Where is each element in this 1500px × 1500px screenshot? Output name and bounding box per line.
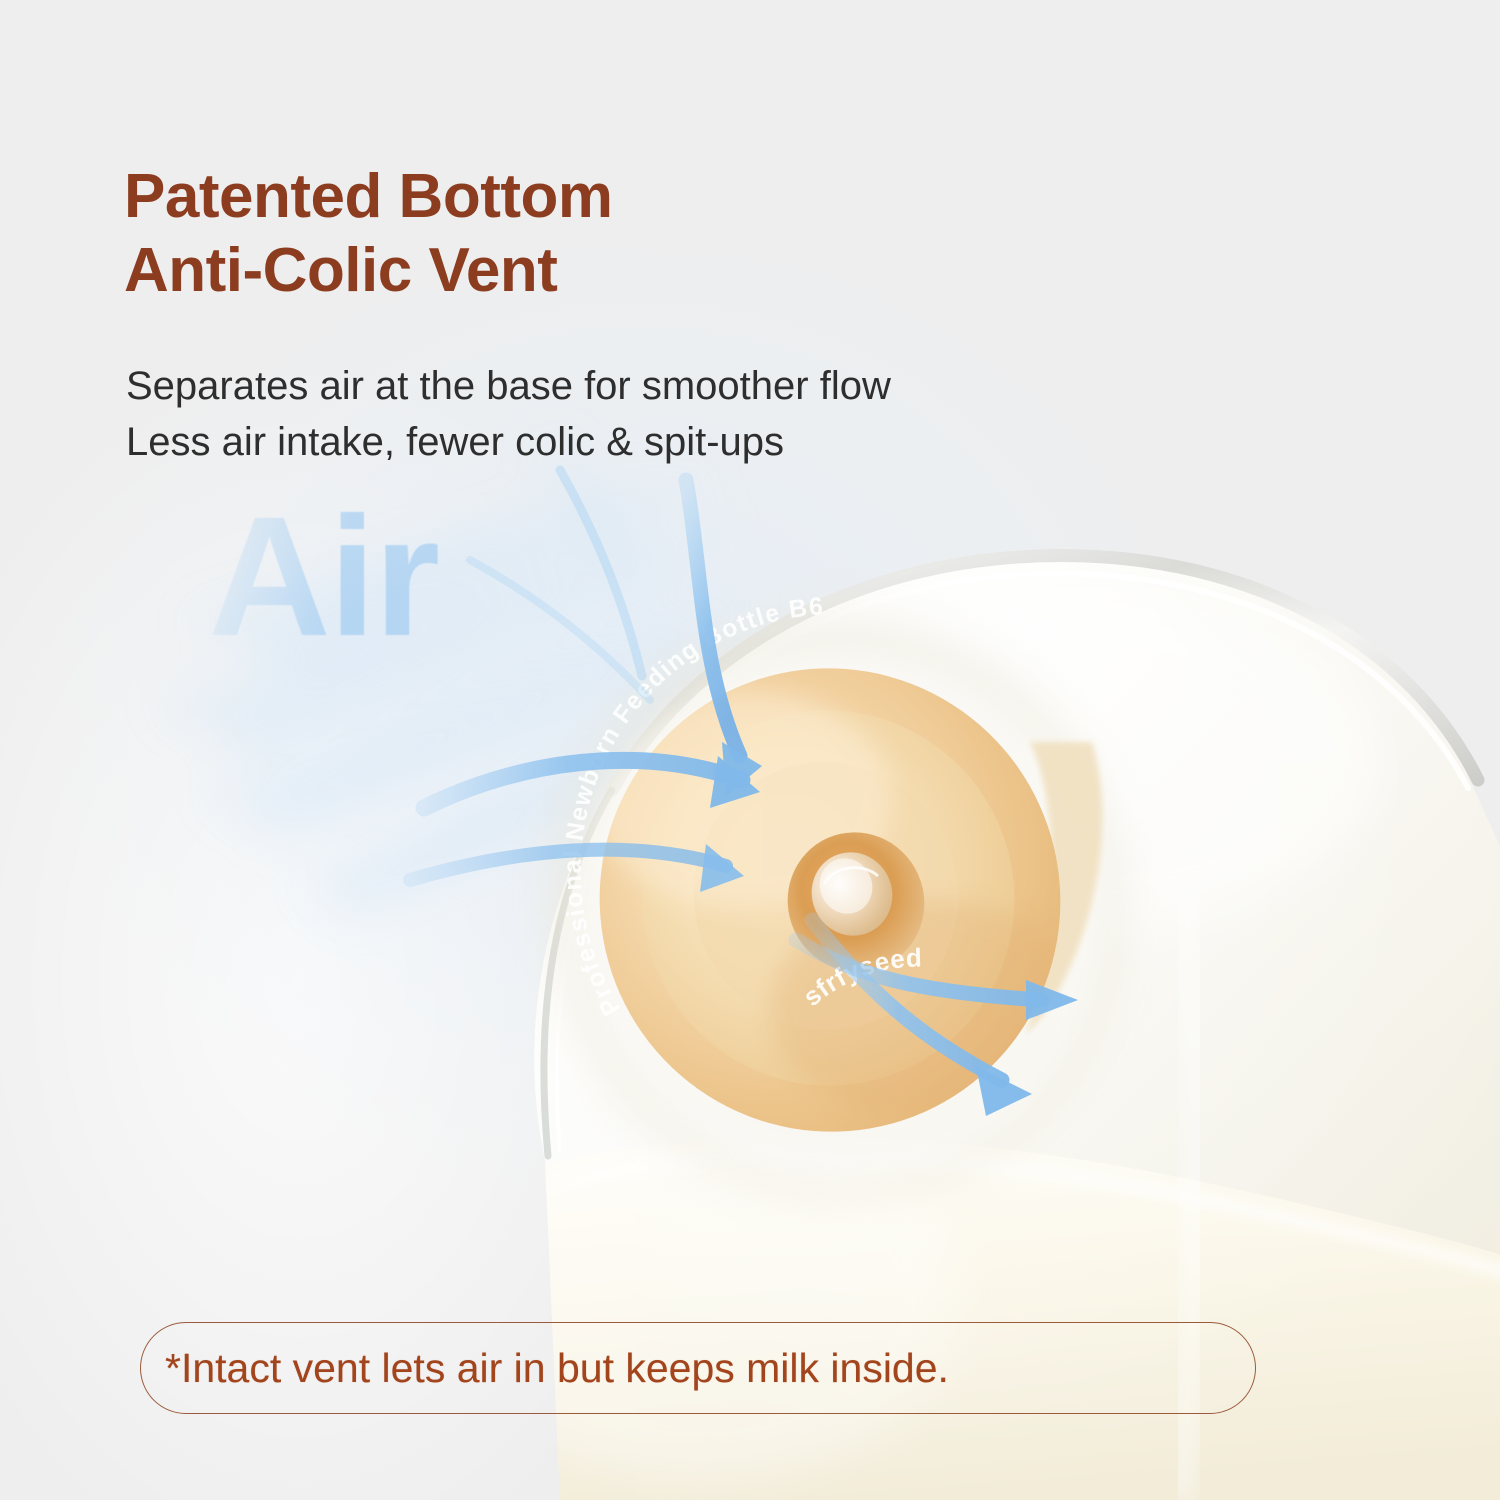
product-feature-banner: Professional Newborn Feeding Bottle B6 s… — [0, 0, 1500, 1500]
footnote-text: *Intact vent lets air in but keeps milk … — [165, 1344, 949, 1392]
page-title: Patented Bottom Anti-Colic Vent — [124, 160, 1024, 308]
footnote-pill: *Intact vent lets air in but keeps milk … — [140, 1322, 1256, 1414]
subtitle-text: Separates air at the base for smoother f… — [126, 358, 1186, 470]
air-watermark-label: Air — [208, 492, 438, 662]
